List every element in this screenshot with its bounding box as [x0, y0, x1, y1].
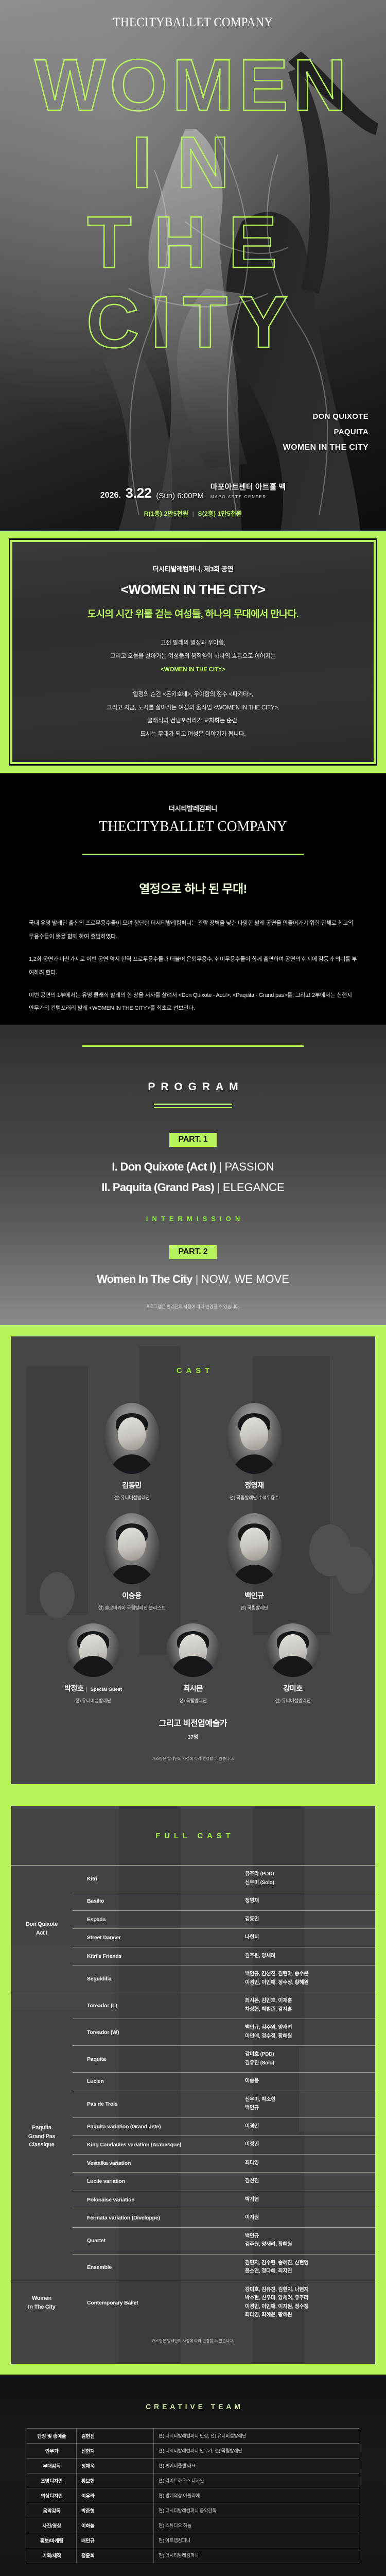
- creative-detail: 현) 씨어터플랜 대표: [154, 2458, 359, 2473]
- creative-team-row: 의상디자인이유라현) 발레의상 아틀리에: [27, 2488, 359, 2503]
- creative-team-table: 단장 및 총예술김현진현) 더시티발레컴퍼니 단장, 전) 유니버설발레단안무가…: [27, 2428, 359, 2563]
- intro-body-2-line-4: 도시는 무대가 되고 여성은 이야기가 됩니다.: [25, 728, 361, 741]
- full-cast-role: Vestalka variation: [73, 2154, 240, 2173]
- cast-name: 최시몬: [154, 1683, 232, 1693]
- creative-person: 정윤희: [77, 2548, 154, 2563]
- full-cast-dancers: 강미호 (PDD)김유진 (Solo): [240, 2046, 375, 2073]
- part-1-chip: PART. 1: [169, 1133, 217, 1147]
- full-cast-role: Polonaise variation: [73, 2191, 240, 2209]
- cast-role: 전) 유니버설발레단: [93, 1494, 170, 1501]
- creative-detail: 현) 스튜디오 하늘: [154, 2518, 359, 2533]
- intro-spacer: [25, 677, 361, 688]
- cast-extra-count: 37명: [11, 1733, 375, 1740]
- full-cast-dancers: 백인규김주원, 양새려, 황혜원: [240, 2227, 375, 2254]
- full-cast-role: Ensemble: [73, 2254, 240, 2281]
- intro-body-2-line-2: 그리고 지금, 도시를 살아가는 여성의 움직임 <WOMEN IN THE C…: [25, 702, 361, 715]
- program-double-rule: [154, 1104, 232, 1108]
- cast-extra: 그리고 비전업예술가 37명: [11, 1716, 375, 1740]
- hero-venue-kr: 마포아트센터 아트홀 맥: [210, 483, 286, 492]
- creative-detail: 현) 더시티발레컴퍼니 단장, 전) 유니버설발레단: [154, 2428, 359, 2443]
- cast-card: 김동민 전) 유니버설발레단: [93, 1403, 170, 1501]
- cast-role: 전) 국립발레단: [216, 1604, 293, 1611]
- hero-brand-title: THECITYBALLET COMPANY: [15, 15, 371, 30]
- creative-team-row: 기획/제작정윤희현) 더시티발레컴퍼니: [27, 2548, 359, 2563]
- price-r: R(1층) 2만5천원: [144, 510, 188, 517]
- creative-role: 의상디자인: [27, 2488, 77, 2503]
- hero-venue-en: MAPO ARTS CENTER: [210, 495, 267, 499]
- program-note: 프로그램은 발레단의 사정에 따라 변경될 수 있습니다.: [0, 1303, 386, 1310]
- hero-date-year: 2026.: [100, 491, 121, 501]
- full-cast-dancers: 정영재: [240, 1892, 375, 1911]
- creative-team-heading: CREATIVE TEAM: [0, 2402, 386, 2411]
- cast-box: CAST 김동민 전) 유니버설발레단 정영재 전) 국립발레단 수석무용수: [11, 1336, 375, 1784]
- full-cast-dancers: 최시몬, 김민호, 이재훈차상현, 박범준, 강지훈: [240, 1992, 375, 2019]
- full-cast-role: Lucile variation: [73, 2173, 240, 2191]
- program-item-2-title: II. Paquita (Grand Pas): [101, 1181, 214, 1194]
- hero-title-line-3: THE: [87, 206, 299, 279]
- hero-title-line-4: CITY: [86, 286, 300, 359]
- creative-role: 홍보/마케팅: [27, 2533, 77, 2548]
- full-cast-role: Lucien: [73, 2073, 240, 2091]
- cast-photo: [66, 1623, 120, 1677]
- program-item-3-title: Women In The City: [97, 1273, 192, 1285]
- program-divider: [82, 1045, 304, 1047]
- about-section: 더시티발레컴퍼니 THECITYBALLET COMPANY 열정으로 하나 된…: [0, 773, 386, 1015]
- full-cast-role: Kitri's Friends: [73, 1947, 240, 1965]
- creative-team-row: 조명디자인황보현현) 라이트하우스 디자인: [27, 2473, 359, 2488]
- intermission-label: INTERMISSION: [0, 1215, 386, 1223]
- full-cast-role: Street Dancer: [73, 1929, 240, 1947]
- program-item-1-title: I. Don Quixote (Act I): [112, 1160, 216, 1173]
- cast-photo: [226, 1403, 282, 1474]
- about-paragraph-2: 1,2회 공연과 마찬가지로 이번 공연 역시 현역 프로무용수들과 더불어 은…: [29, 953, 357, 980]
- creative-role: 안무가: [27, 2443, 77, 2458]
- cast-photo: [226, 1513, 282, 1584]
- full-cast-role: King Candaules variation (Arabesque): [73, 2136, 240, 2155]
- cast-card: 최시몬 전) 국립발레단: [154, 1623, 232, 1704]
- full-cast-dancers: 박지현: [240, 2191, 375, 2209]
- creative-person: 배민규: [77, 2533, 154, 2548]
- cast-note: 캐스팅은 발레단의 사정에 따라 변경될 수 있습니다.: [11, 1756, 375, 1761]
- creative-team-row: 안무가신현지현) 더시티발레컴퍼니 안무가, 전) 국립발레단: [27, 2443, 359, 2458]
- full-cast-dancers: 김선진: [240, 2173, 375, 2191]
- creative-person: 김현진: [77, 2428, 154, 2443]
- about-company-kr: 더시티발레컴퍼니: [0, 803, 386, 813]
- hero-venue: 마포아트센터 아트홀 맥 MAPO ARTS CENTER: [210, 483, 286, 501]
- cast-photo: [104, 1403, 160, 1474]
- program-item-3-tag: NOW, WE MOVE: [201, 1273, 289, 1285]
- full-cast-role: Espada: [73, 1910, 240, 1929]
- intro-body-1-line-2: 그리고 오늘을 살아가는 여성들의 움직임이 하나의 흐름으로 이어지는: [25, 650, 361, 664]
- full-cast-dancers: 최다영: [240, 2154, 375, 2173]
- program-item-2-tag: ELEGANCE: [223, 1181, 285, 1194]
- program-section: PROGRAM PART. 1 I. Don Quixote (Act I)|P…: [0, 1025, 386, 1325]
- hero-title-line-2: IN: [132, 126, 255, 199]
- cast-role: 전) 유니버설발레단: [254, 1697, 331, 1704]
- cast-card: 백인규 전) 국립발레단: [216, 1513, 293, 1611]
- full-cast-role: Paquita: [73, 2046, 240, 2073]
- cast-card: 강미호 전) 유니버설발레단: [254, 1623, 331, 1704]
- full-cast-dancers: 유주라 (PDD)신우미 (Solo): [240, 1866, 375, 1892]
- full-cast-role: Toreador (L): [73, 1992, 240, 2019]
- full-cast-dancers: 김민지, 김수현, 송혜진, 신현영윤소연, 정다혜, 최지연: [240, 2254, 375, 2281]
- about-company-en: THECITYBALLET COMPANY: [12, 818, 375, 835]
- cast-row-1: 김동민 전) 유니버설발레단 정영재 전) 국립발레단 수석무용수: [11, 1403, 375, 1501]
- program-item-3: Women In The City|NOW, WE MOVE: [0, 1273, 386, 1286]
- full-cast-role: Paquita variation (Grand Jete): [73, 2117, 240, 2136]
- hero-title-line-1: WOMEN: [35, 49, 352, 122]
- creative-role: 조명디자인: [27, 2473, 77, 2488]
- cast-name: 백인규: [216, 1590, 293, 1601]
- hero-program-list: DON QUIXOTE PAQUITA WOMEN IN THE CITY: [283, 412, 369, 452]
- intro-body-2: 열정의 순간 <돈키호테>, 우아함의 정수 <파키타>, 그리고 지금, 도시…: [25, 688, 361, 742]
- creative-team-section: CREATIVE TEAM 단장 및 총예술김현진현) 더시티발레컴퍼니 단장,…: [0, 2375, 386, 2576]
- hero-program-1: DON QUIXOTE: [283, 412, 369, 421]
- full-cast-dancers: 신우미, 박소현백인규: [240, 2091, 375, 2117]
- hero-date-venue: 2026. 3.22 (Sun) 6:00PM 마포아트센터 아트홀 맥 MAP…: [0, 483, 386, 501]
- cast-card: 정영재 전) 국립발레단 수석무용수: [216, 1403, 293, 1501]
- cast-name-text: 박정호: [64, 1684, 83, 1692]
- creative-team-row: 무대감독정재욱현) 씨어터플랜 대표: [27, 2458, 359, 2473]
- hero-section: THECITYBALLET COMPANY WOMEN IN THE CITY …: [0, 0, 386, 531]
- creative-person: 이하늘: [77, 2518, 154, 2533]
- full-cast-dancers: 백인규, 김주원, 양새려이인애, 정수정, 황혜원: [240, 2019, 375, 2046]
- cast-name: 박정호Special Guest: [55, 1683, 132, 1693]
- creative-role: 무대감독: [27, 2458, 77, 2473]
- full-cast-row: PaquitaGrand PasClassiqueToreador (L)최시몬…: [11, 1992, 375, 2019]
- creative-detail: 현) 더시티발레컴퍼니: [154, 2548, 359, 2563]
- cast-content: CAST 김동민 전) 유니버설발레단 정영재 전) 국립발레단 수석무용수: [11, 1366, 375, 1761]
- creative-role: 단장 및 총예술: [27, 2428, 77, 2443]
- full-cast-heading: FULL CAST: [11, 1832, 375, 1840]
- creative-role: 기획/제작: [27, 2548, 77, 2563]
- cast-card: 이승용 현) 슬로바키아 국립발레단 솔리스트: [93, 1513, 170, 1611]
- hero-date-time: (Sun) 6:00PM: [156, 492, 204, 501]
- cast-heading: CAST: [11, 1366, 375, 1375]
- full-cast-role: Quartet: [73, 2227, 240, 2254]
- full-cast-dancers: 백인규, 김선진, 김현아, 송수은이경민, 이인애, 정수정, 황혜원: [240, 1965, 375, 1992]
- full-cast-dancers: 이정민: [240, 2136, 375, 2155]
- hero-date-day: 3.22: [126, 485, 152, 501]
- creative-team-row: 단장 및 총예술김현진현) 더시티발레컴퍼니 단장, 전) 유니버설발레단: [27, 2428, 359, 2443]
- full-cast-role: Contemporary Ballet: [73, 2281, 240, 2325]
- full-cast-group-label: Don QuixoteAct I: [11, 1866, 73, 1992]
- creative-role: 음악감독: [27, 2503, 77, 2518]
- full-cast-dancers: 강미호, 김유진, 김현지, 나현지박소현, 신우미, 양새려, 유주라이경민,…: [240, 2281, 375, 2325]
- creative-team-row: 사진/영상이하늘현) 스튜디오 하늘: [27, 2518, 359, 2533]
- part-2-chip: PART. 2: [169, 1245, 217, 1259]
- intro-section: 더시티발레컴퍼니, 제3회 공연 <WOMEN IN THE CITY> 도시의…: [0, 531, 386, 773]
- intro-lead: 도시의 시간 위를 걷는 여성들, 하나의 무대에서 만나다.: [25, 606, 361, 620]
- program-item-1-tag: PASSION: [224, 1160, 274, 1173]
- full-cast-dancers: 이승용: [240, 2073, 375, 2091]
- intro-body-1-line-3: <WOMEN IN THE CITY>: [25, 664, 361, 677]
- poster-page: THECITYBALLET COMPANY WOMEN IN THE CITY …: [0, 0, 386, 2576]
- hero-program-2: PAQUITA: [283, 428, 369, 436]
- intro-title: <WOMEN IN THE CITY>: [25, 582, 361, 598]
- intro-body-2-line-1: 열정의 순간 <돈키호테>, 우아함의 정수 <파키타>,: [25, 688, 361, 702]
- creative-person: 정재욱: [77, 2458, 154, 2473]
- creative-person: 황보현: [77, 2473, 154, 2488]
- intro-body-2-line-3: 클래식과 컨템포러리가 교차하는 순간,: [25, 715, 361, 728]
- full-cast-dancers: 김주원, 양새려: [240, 1947, 375, 1965]
- cast-name: 김동민: [93, 1480, 170, 1490]
- about-paragraph-3: 이번 공연의 1부에서는 유명 클래식 발레의 한 장을 서사를 살려서 <Do…: [29, 989, 357, 1016]
- full-cast-section: FULL CAST Don QuixoteAct IKitri유주라 (PDD)…: [0, 1795, 386, 2375]
- cast-name: 강미호: [254, 1683, 331, 1693]
- cast-extra-title: 그리고 비전업예술가: [11, 1716, 375, 1728]
- full-cast-table: Don QuixoteAct IKitri유주라 (PDD)신우미 (Solo)…: [11, 1865, 375, 2325]
- program-heading: PROGRAM: [0, 1081, 386, 1093]
- program-item-1: I. Don Quixote (Act I)|PASSION: [0, 1160, 386, 1174]
- creative-detail: 현) 발레의상 아틀리에: [154, 2488, 359, 2503]
- program-item-2: II. Paquita (Grand Pas)|ELEGANCE: [0, 1181, 386, 1194]
- full-cast-dancers: 김동민: [240, 1910, 375, 1929]
- full-cast-dancers: 이경민: [240, 2117, 375, 2136]
- cast-name: 이승용: [93, 1590, 170, 1601]
- cast-special-guest-badge: Special Guest: [86, 1687, 122, 1692]
- creative-team-row: 음악감독박준형현) 더시티발레컴퍼니 음악감독: [27, 2503, 359, 2518]
- creative-detail: 현) 라이트하우스 디자인: [154, 2473, 359, 2488]
- price-separator: |: [192, 510, 194, 517]
- about-paragraph-1: 국내 유명 발레단 출신의 프로무용수들이 모여 창단한 더시티발레컴퍼니는 관…: [29, 917, 357, 944]
- full-cast-role: Basilio: [73, 1892, 240, 1911]
- hero-price-line: R(1층) 2만5천원 | S(2층) 1만5천원: [0, 509, 386, 518]
- intro-eyebrow: 더시티발레컴퍼니, 제3회 공연: [25, 564, 361, 573]
- creative-detail: 현) 더시티발레컴퍼니 안무가, 전) 국립발레단: [154, 2443, 359, 2458]
- cast-role: 전) 국립발레단: [154, 1697, 232, 1704]
- price-s: S(2층) 1만5천원: [198, 510, 242, 517]
- cast-section: CAST 김동민 전) 유니버설발레단 정영재 전) 국립발레단 수석무용수: [0, 1325, 386, 1795]
- creative-person: 박준형: [77, 2503, 154, 2518]
- full-cast-role: Fermata variation (Diveloppe): [73, 2209, 240, 2228]
- cast-row-2: 이승용 현) 슬로바키아 국립발레단 솔리스트 백인규 전) 국립발레단: [11, 1513, 375, 1611]
- creative-person: 신현지: [77, 2443, 154, 2458]
- cast-photo: [104, 1513, 160, 1584]
- intro-body-1: 고전 발레의 열정과 우아함, 그리고 오늘을 살아가는 여성들의 움직임이 하…: [25, 637, 361, 677]
- cast-role: 현) 슬로바키아 국립발레단 솔리스트: [93, 1604, 170, 1611]
- creative-detail: 현) 아트랩컴퍼니: [154, 2533, 359, 2548]
- cast-role: 전) 국립발레단 수석무용수: [216, 1494, 293, 1501]
- full-cast-role: Pas de Trois: [73, 2091, 240, 2117]
- cast-photo: [266, 1623, 320, 1677]
- cast-role: 현) 유니버설발레단: [55, 1697, 132, 1704]
- creative-person: 이유라: [77, 2488, 154, 2503]
- creative-detail: 현) 더시티발레컴퍼니 음악감독: [154, 2503, 359, 2518]
- cast-name: 정영재: [216, 1480, 293, 1490]
- full-cast-role: Kitri: [73, 1866, 240, 1892]
- cast-card: 박정호Special Guest 현) 유니버설발레단: [55, 1623, 132, 1704]
- about-slogan: 열정으로 하나 된 무대!: [0, 879, 386, 896]
- full-cast-box: FULL CAST Don QuixoteAct IKitri유주라 (PDD)…: [11, 1806, 375, 2364]
- about-body: 국내 유명 발레단 출신의 프로무용수들이 모여 창단한 더시티발레컴퍼니는 관…: [0, 917, 386, 1015]
- full-cast-group-label: WomenIn The City: [11, 2281, 73, 2325]
- creative-role: 사진/영상: [27, 2518, 77, 2533]
- full-cast-role: Seguidilla: [73, 1965, 240, 1992]
- full-cast-dancers: 이지원: [240, 2209, 375, 2228]
- intro-box: 더시티발레컴퍼니, 제3회 공연 <WOMEN IN THE CITY> 도시의…: [12, 541, 374, 762]
- full-cast-row: WomenIn The CityContemporary Ballet강미호, …: [11, 2281, 375, 2325]
- full-cast-group-label: PaquitaGrand PasClassique: [11, 1992, 73, 2281]
- hero-program-3: WOMEN IN THE CITY: [283, 443, 369, 452]
- full-cast-dancers: 나현지: [240, 1929, 375, 1947]
- full-cast-note: 캐스팅은 발레단의 사정에 따라 변경될 수 있습니다.: [11, 2338, 375, 2344]
- intro-body-1-line-1: 고전 발레의 열정과 우아함,: [25, 637, 361, 650]
- cast-photo: [166, 1623, 220, 1677]
- about-divider: [82, 854, 304, 855]
- full-cast-row: Don QuixoteAct IKitri유주라 (PDD)신우미 (Solo): [11, 1866, 375, 1892]
- full-cast-role: Toreador (W): [73, 2019, 240, 2046]
- cast-row-3: 박정호Special Guest 현) 유니버설발레단 최시몬 전) 국립발레단…: [11, 1623, 375, 1704]
- creative-team-row: 홍보/마케팅배민규현) 아트랩컴퍼니: [27, 2533, 359, 2548]
- full-cast-content: FULL CAST Don QuixoteAct IKitri유주라 (PDD)…: [11, 1832, 375, 2344]
